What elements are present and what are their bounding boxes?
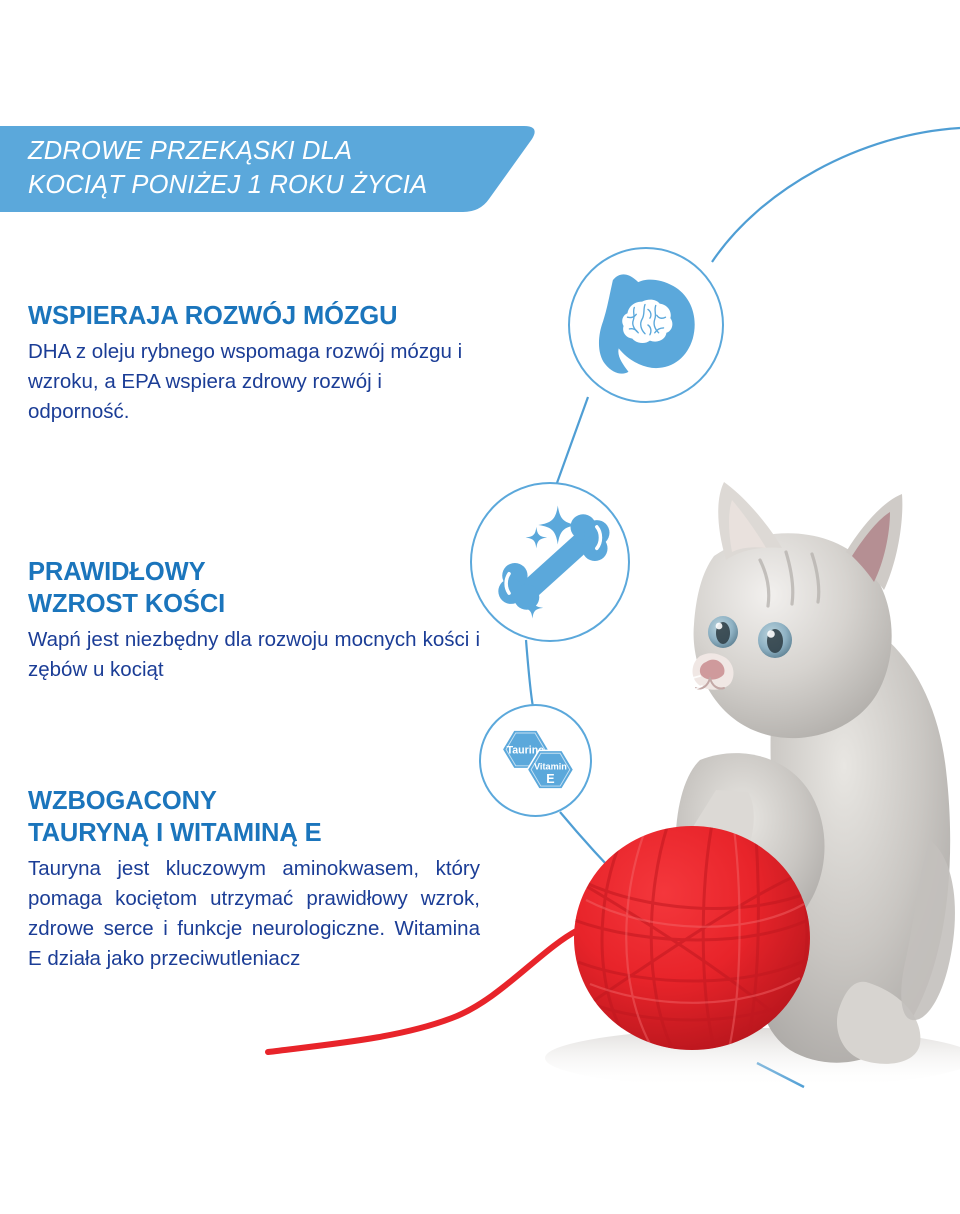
feature-title-bones: PRAWIDŁOWY WZROST KOŚCI — [28, 556, 480, 620]
sparkling-bone-icon — [470, 482, 630, 642]
connector-bottom-tail — [757, 1063, 804, 1087]
header-banner: ZDROWE PRZEKĄSKI DLA KOCIĄT PONIŻEJ 1 RO… — [0, 126, 540, 212]
vitamin-label-line2: E — [546, 772, 554, 786]
connector-taurine-to-bottom — [560, 812, 672, 930]
connector-bones-to-taurine — [526, 640, 533, 707]
feature-title-brain: WSPIERAJA ROZWÓJ MÓZGU — [28, 300, 480, 332]
taurine-vitamin-e-hexagons-icon: Taurine Vitamin E — [479, 704, 592, 817]
feature-block-brain: WSPIERAJA ROZWÓJ MÓZGU DHA z oleju rybne… — [28, 300, 480, 427]
connector-brain-to-bones — [553, 397, 588, 494]
feature-title-taurine: WZBOGACONY TAURYNĄ I WITAMINĄ E — [28, 785, 480, 849]
feature-body-bones: Wapń jest niezbędny dla rozwoju mocnych … — [28, 625, 480, 685]
feature-body-brain: DHA z oleju rybnego wspomaga rozwój mózg… — [28, 337, 480, 427]
connector-arc-topright — [712, 128, 960, 262]
vitamin-label-line1: Vitamin — [534, 762, 567, 772]
cat-head-brain-icon — [568, 247, 724, 403]
feature-block-taurine: WZBOGACONY TAURYNĄ I WITAMINĄ E Tauryna … — [28, 785, 480, 974]
feature-block-bones: PRAWIDŁOWY WZROST KOŚCI Wapń jest niezbę… — [28, 556, 480, 685]
infographic-page: ZDROWE PRZEKĄSKI DLA KOCIĄT PONIŻEJ 1 RO… — [0, 0, 960, 1214]
feature-body-taurine: Tauryna jest kluczowym aminokwasem, któr… — [28, 854, 480, 974]
banner-title: ZDROWE PRZEKĄSKI DLA KOCIĄT PONIŻEJ 1 RO… — [28, 135, 498, 203]
